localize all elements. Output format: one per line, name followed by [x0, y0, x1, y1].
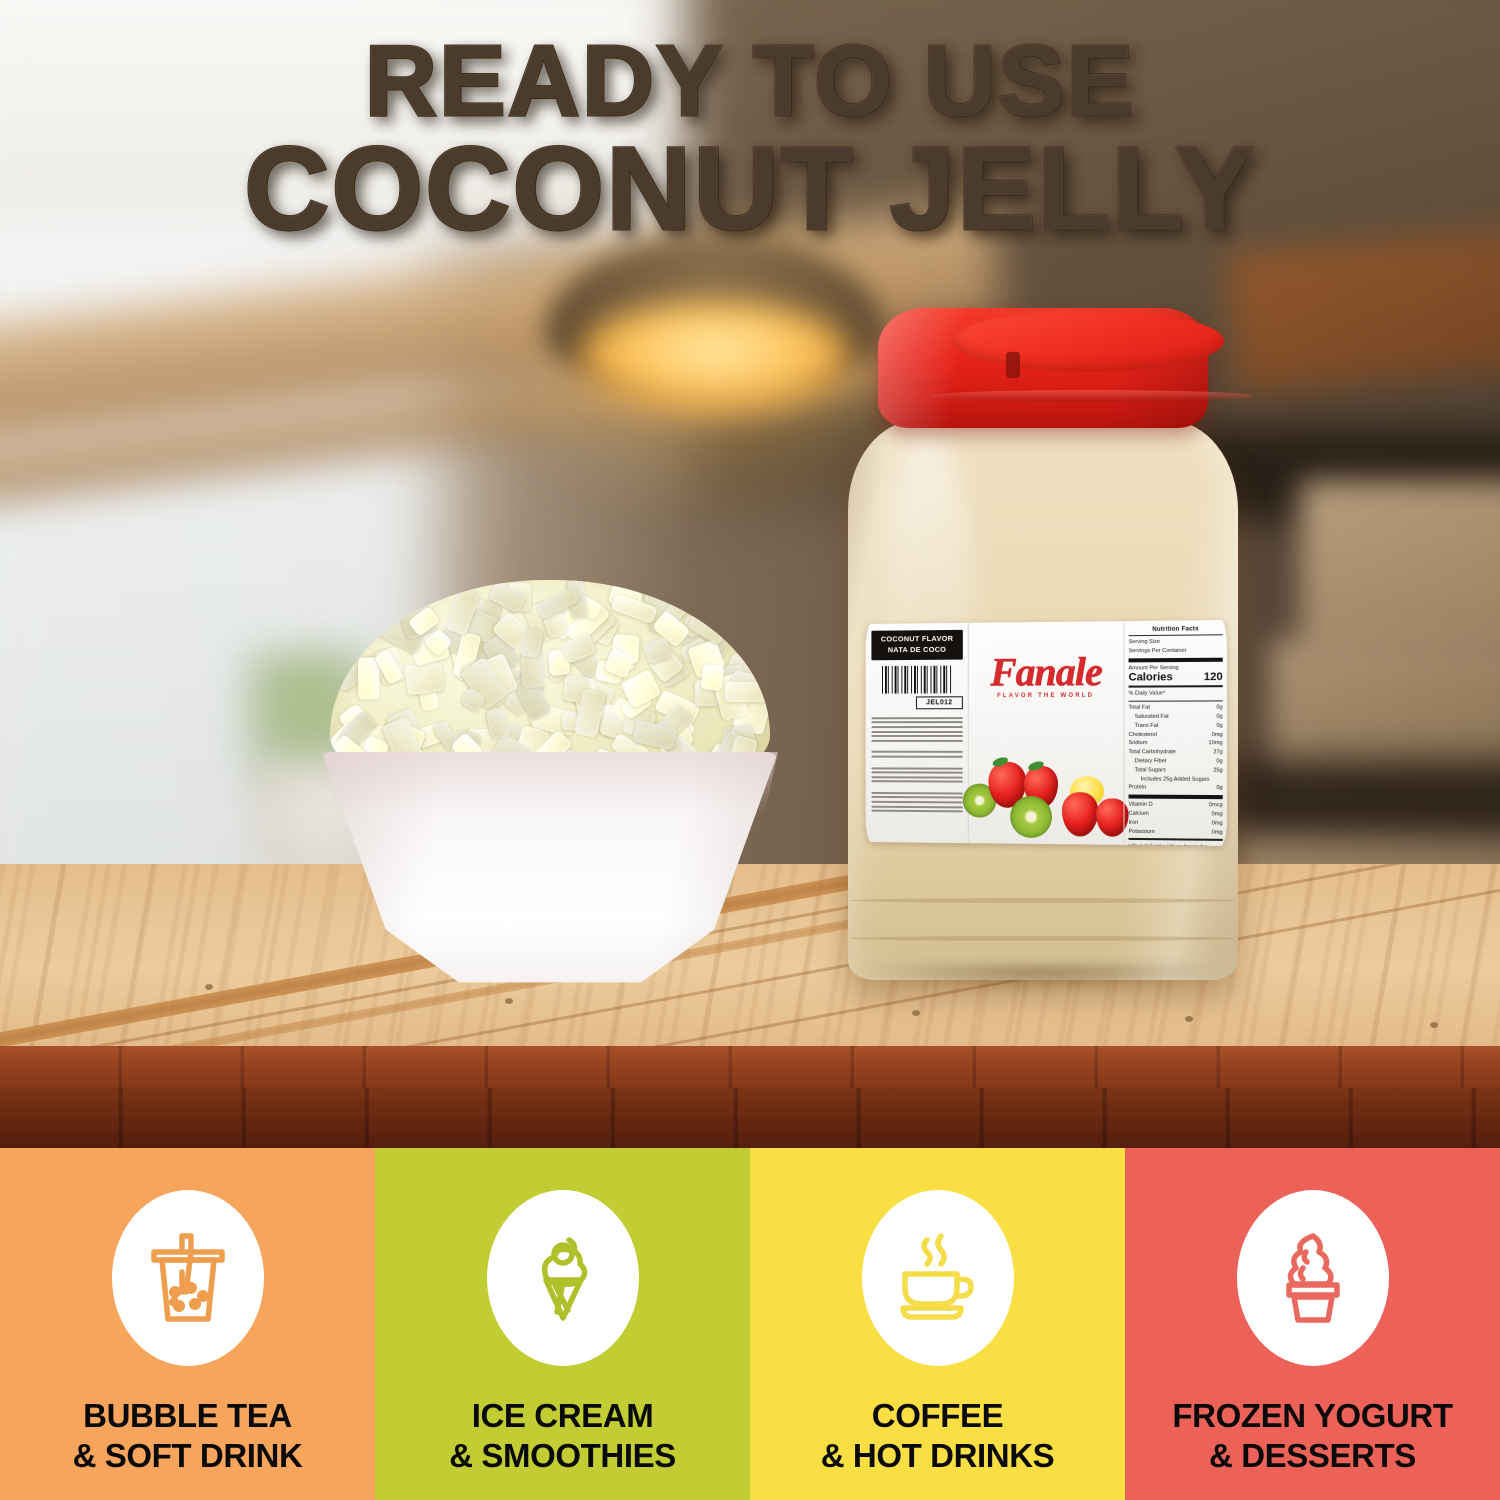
panel-icon-circle: [1237, 1190, 1389, 1366]
flavor-line-2: NATA DE COCO: [888, 645, 946, 654]
table-nail: [1185, 1016, 1193, 1022]
panel-label: BUBBLE TEA & SOFT DRINK: [73, 1396, 303, 1477]
jar-cap-tamper-ring: [930, 390, 1252, 402]
nutrition-row: Trans Fat0g: [1129, 722, 1223, 731]
nutrition-row: Total Fat0g: [1129, 704, 1223, 713]
panel-label: COFFEE & HOT DRINKS: [821, 1396, 1055, 1477]
background-shelf-box-1: [1300, 480, 1500, 660]
nutrition-row: % Daily Value*: [1129, 690, 1223, 699]
nutrition-row: Total Sugars25g: [1129, 766, 1223, 775]
jelly-cube: [330, 633, 358, 666]
panel-label: ICE CREAM & SMOOTHIES: [449, 1396, 676, 1477]
product-marketing-image: READY TO USE COCONUT JELLY: [0, 0, 1500, 1500]
coconut-jelly-bowl: [300, 580, 800, 1020]
panel-bubble-tea[interactable]: BUBBLE TEA & SOFT DRINK: [0, 1148, 375, 1500]
jelly-cube: [725, 682, 766, 702]
ice-cream-cone-icon: [520, 1230, 606, 1326]
brand-logo: Fanale FLAVOR THE WORLD: [969, 647, 1124, 699]
label-left-column: COCONUT FLAVOR NATA DE COCO JEL012: [866, 623, 969, 843]
kiwi-slice: [1010, 796, 1052, 838]
flavor-line-1: COCONUT FLAVOR: [881, 634, 953, 644]
panel-ice-cream[interactable]: ICE CREAM & SMOOTHIES: [375, 1148, 750, 1500]
table-nail: [1430, 1022, 1438, 1028]
strawberry: [1061, 792, 1097, 836]
bowl-rim: [322, 752, 778, 814]
jar-cap: [878, 308, 1208, 428]
ingredients-text-block: [871, 717, 962, 813]
panel-label: FROZEN YOGURT & DESSERTS: [1172, 1396, 1452, 1477]
bubble-tea-icon: [145, 1230, 231, 1326]
headline-line-1: READY TO USE: [0, 34, 1500, 128]
nutrition-title: Nutrition Facts: [1129, 626, 1223, 633]
headline: READY TO USE COCONUT JELLY: [0, 34, 1500, 245]
label-center-column: Fanale FLAVOR THE WORLD: [969, 621, 1124, 845]
product-label: COCONUT FLAVOR NATA DE COCO JEL012: [866, 620, 1227, 846]
panel-frozen-yogurt[interactable]: FROZEN YOGURT & DESSERTS: [1125, 1148, 1500, 1500]
pendant-lamp-glow: [580, 300, 850, 410]
flavor-name-box: COCONUT FLAVOR NATA DE COCO: [871, 630, 962, 660]
panel-icon-circle: [487, 1190, 639, 1366]
nutrition-row: Dietary Fiber0g: [1129, 757, 1223, 766]
nutrition-row: Cholesterol0mg: [1129, 731, 1223, 740]
calories-value: 120: [1204, 672, 1223, 683]
jar-cap-notch: [1006, 352, 1020, 378]
nutrition-row: Servings Per Container: [1129, 646, 1223, 656]
table-nail: [912, 1010, 920, 1016]
nutrition-row: Protein0g: [1129, 784, 1223, 793]
jar-base-shadow: [856, 964, 1228, 990]
jar-rib: [850, 898, 1236, 903]
nutrition-row: Sodium10mg: [1129, 739, 1223, 748]
fruit-photo: [958, 750, 1134, 841]
table-edge: [0, 1046, 1500, 1088]
sku-code: JEL012: [916, 696, 963, 709]
table-front-face: [0, 1088, 1500, 1148]
jar-rib: [850, 936, 1236, 941]
headline-line-2: COCONUT JELLY: [0, 134, 1500, 245]
background-shelf-box-red: [1224, 227, 1500, 393]
nutrition-row: Total Carbohydrate27g: [1129, 748, 1223, 757]
product-jar: COCONUT FLAVOR NATA DE COCO JEL012: [830, 300, 1250, 1000]
panel-icon-circle: [862, 1190, 1014, 1366]
jelly-cube: [404, 662, 445, 696]
nutrition-row: Potassium0mg: [1129, 827, 1223, 837]
jelly-cube: [700, 663, 724, 690]
panel-icon-circle: [112, 1190, 264, 1366]
nutrition-row: Calcium0mg: [1129, 810, 1223, 820]
jar-cap-top-disc: [952, 310, 1224, 372]
brand-name: Fanale: [969, 647, 1124, 695]
panel-coffee[interactable]: COFFEE & HOT DRINKS: [750, 1148, 1125, 1500]
nutrition-facts-panel: Nutrition Facts Serving Size Servings Pe…: [1123, 620, 1226, 846]
frozen-yogurt-icon: [1270, 1230, 1356, 1326]
calories-row: Calories 120: [1129, 672, 1223, 684]
nutrition-row: Saturated Fat0g: [1129, 713, 1223, 722]
nutrition-row: Includes 25g Added Sugars: [1129, 775, 1223, 784]
use-case-panels: BUBBLE TEA & SOFT DRINK ICE: [0, 1148, 1500, 1500]
table-nail: [205, 984, 213, 990]
barcode: [882, 665, 952, 693]
jelly-cube: [358, 658, 379, 700]
coffee-cup-icon: [891, 1230, 985, 1326]
